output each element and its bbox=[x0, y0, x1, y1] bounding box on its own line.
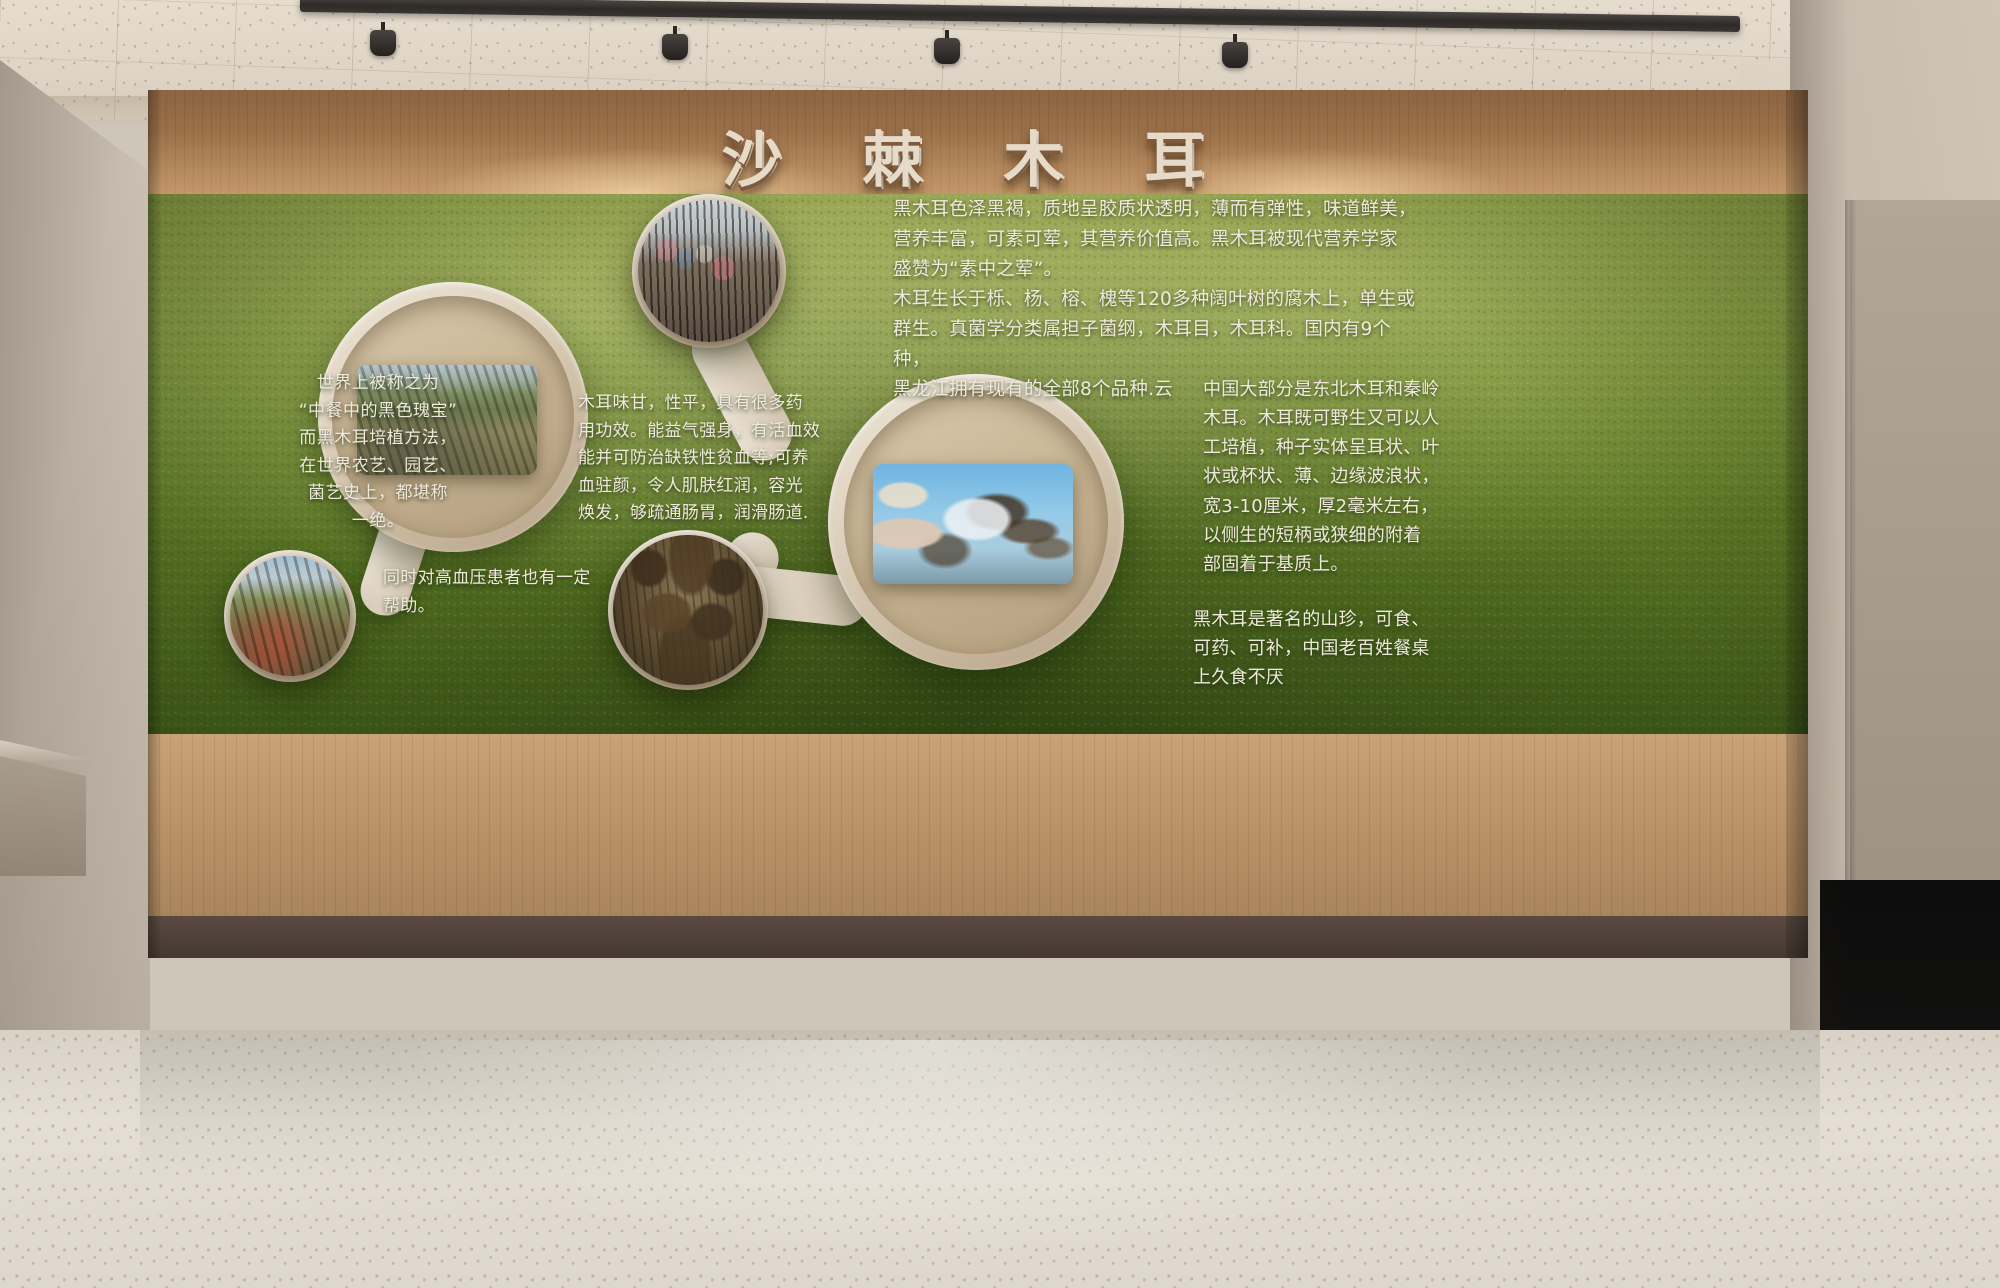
left-counter-body bbox=[0, 756, 86, 876]
wall-right-shadow-edge bbox=[1786, 90, 1808, 958]
right-wall-recess bbox=[1850, 200, 2000, 900]
wall-left-shadow-edge bbox=[148, 90, 162, 958]
track-spotlight-2 bbox=[662, 26, 688, 60]
track-spotlight-3 bbox=[934, 30, 960, 64]
lower-wood-grain-texture bbox=[148, 734, 1808, 924]
text-middle-block-2: 同时对高血压患者也有一定 帮助。 bbox=[383, 565, 598, 620]
text-middle-block: 木耳味甘，性平，具有很多药 用功效。能益气强身，有活血效 能并可防治缺铁性贫血等… bbox=[578, 390, 823, 528]
track-spotlight-4 bbox=[1222, 34, 1248, 68]
text-right-block-4: 黑木耳是著名的山珍，可食、 可药、可补，中国老百姓餐桌 上久食不厌 bbox=[1193, 605, 1443, 692]
exhibit-title: 沙 棘 木 耳 bbox=[148, 112, 1808, 199]
exhibit-room-scene: 沙 棘 木 耳 沙 棘 木 耳 bbox=[0, 0, 2000, 1288]
spotlight-head-icon bbox=[934, 38, 960, 64]
wall-baseboard bbox=[148, 916, 1808, 958]
fungi-cluster-photo[interactable] bbox=[613, 535, 763, 685]
text-right-block-1: 黑木耳色泽黑褐，质地呈胶质状透明，薄而有弹性，味道鲜美， 营养丰富，可素可荤，其… bbox=[893, 195, 1423, 285]
track-spotlight-1 bbox=[370, 22, 396, 56]
spotlight-head-icon bbox=[1222, 42, 1248, 68]
pod-harvest-worker[interactable] bbox=[828, 374, 1124, 670]
exhibit-wall: 沙 棘 木 耳 沙 棘 木 耳 bbox=[148, 90, 1808, 1050]
harvest-worker-photo[interactable] bbox=[873, 464, 1073, 584]
greenhouse-visitors-photo[interactable] bbox=[638, 200, 780, 342]
field-crops-photo[interactable] bbox=[230, 556, 350, 676]
pod-greenhouse-visitors[interactable] bbox=[632, 194, 786, 348]
spotlight-head-icon bbox=[370, 30, 396, 56]
text-left-block: 世界上被称之为 “中餐中的黑色瑰宝” 而黑木耳培植方法， 在世界农艺、园艺、 菌… bbox=[278, 370, 478, 535]
text-right-block-3: 中国大部分是东北木耳和秦岭 木耳。木耳既可野生又可以人 工培植，种子实体呈耳状、… bbox=[1203, 375, 1448, 579]
left-wall-shading bbox=[0, 60, 150, 1160]
floor-light-sheen bbox=[380, 1040, 1480, 1270]
wall-lower-wood-band bbox=[148, 734, 1808, 924]
spotlight-head-icon bbox=[662, 34, 688, 60]
pod-fungi-cluster[interactable] bbox=[608, 530, 768, 690]
pod-field-crops[interactable] bbox=[224, 550, 356, 682]
